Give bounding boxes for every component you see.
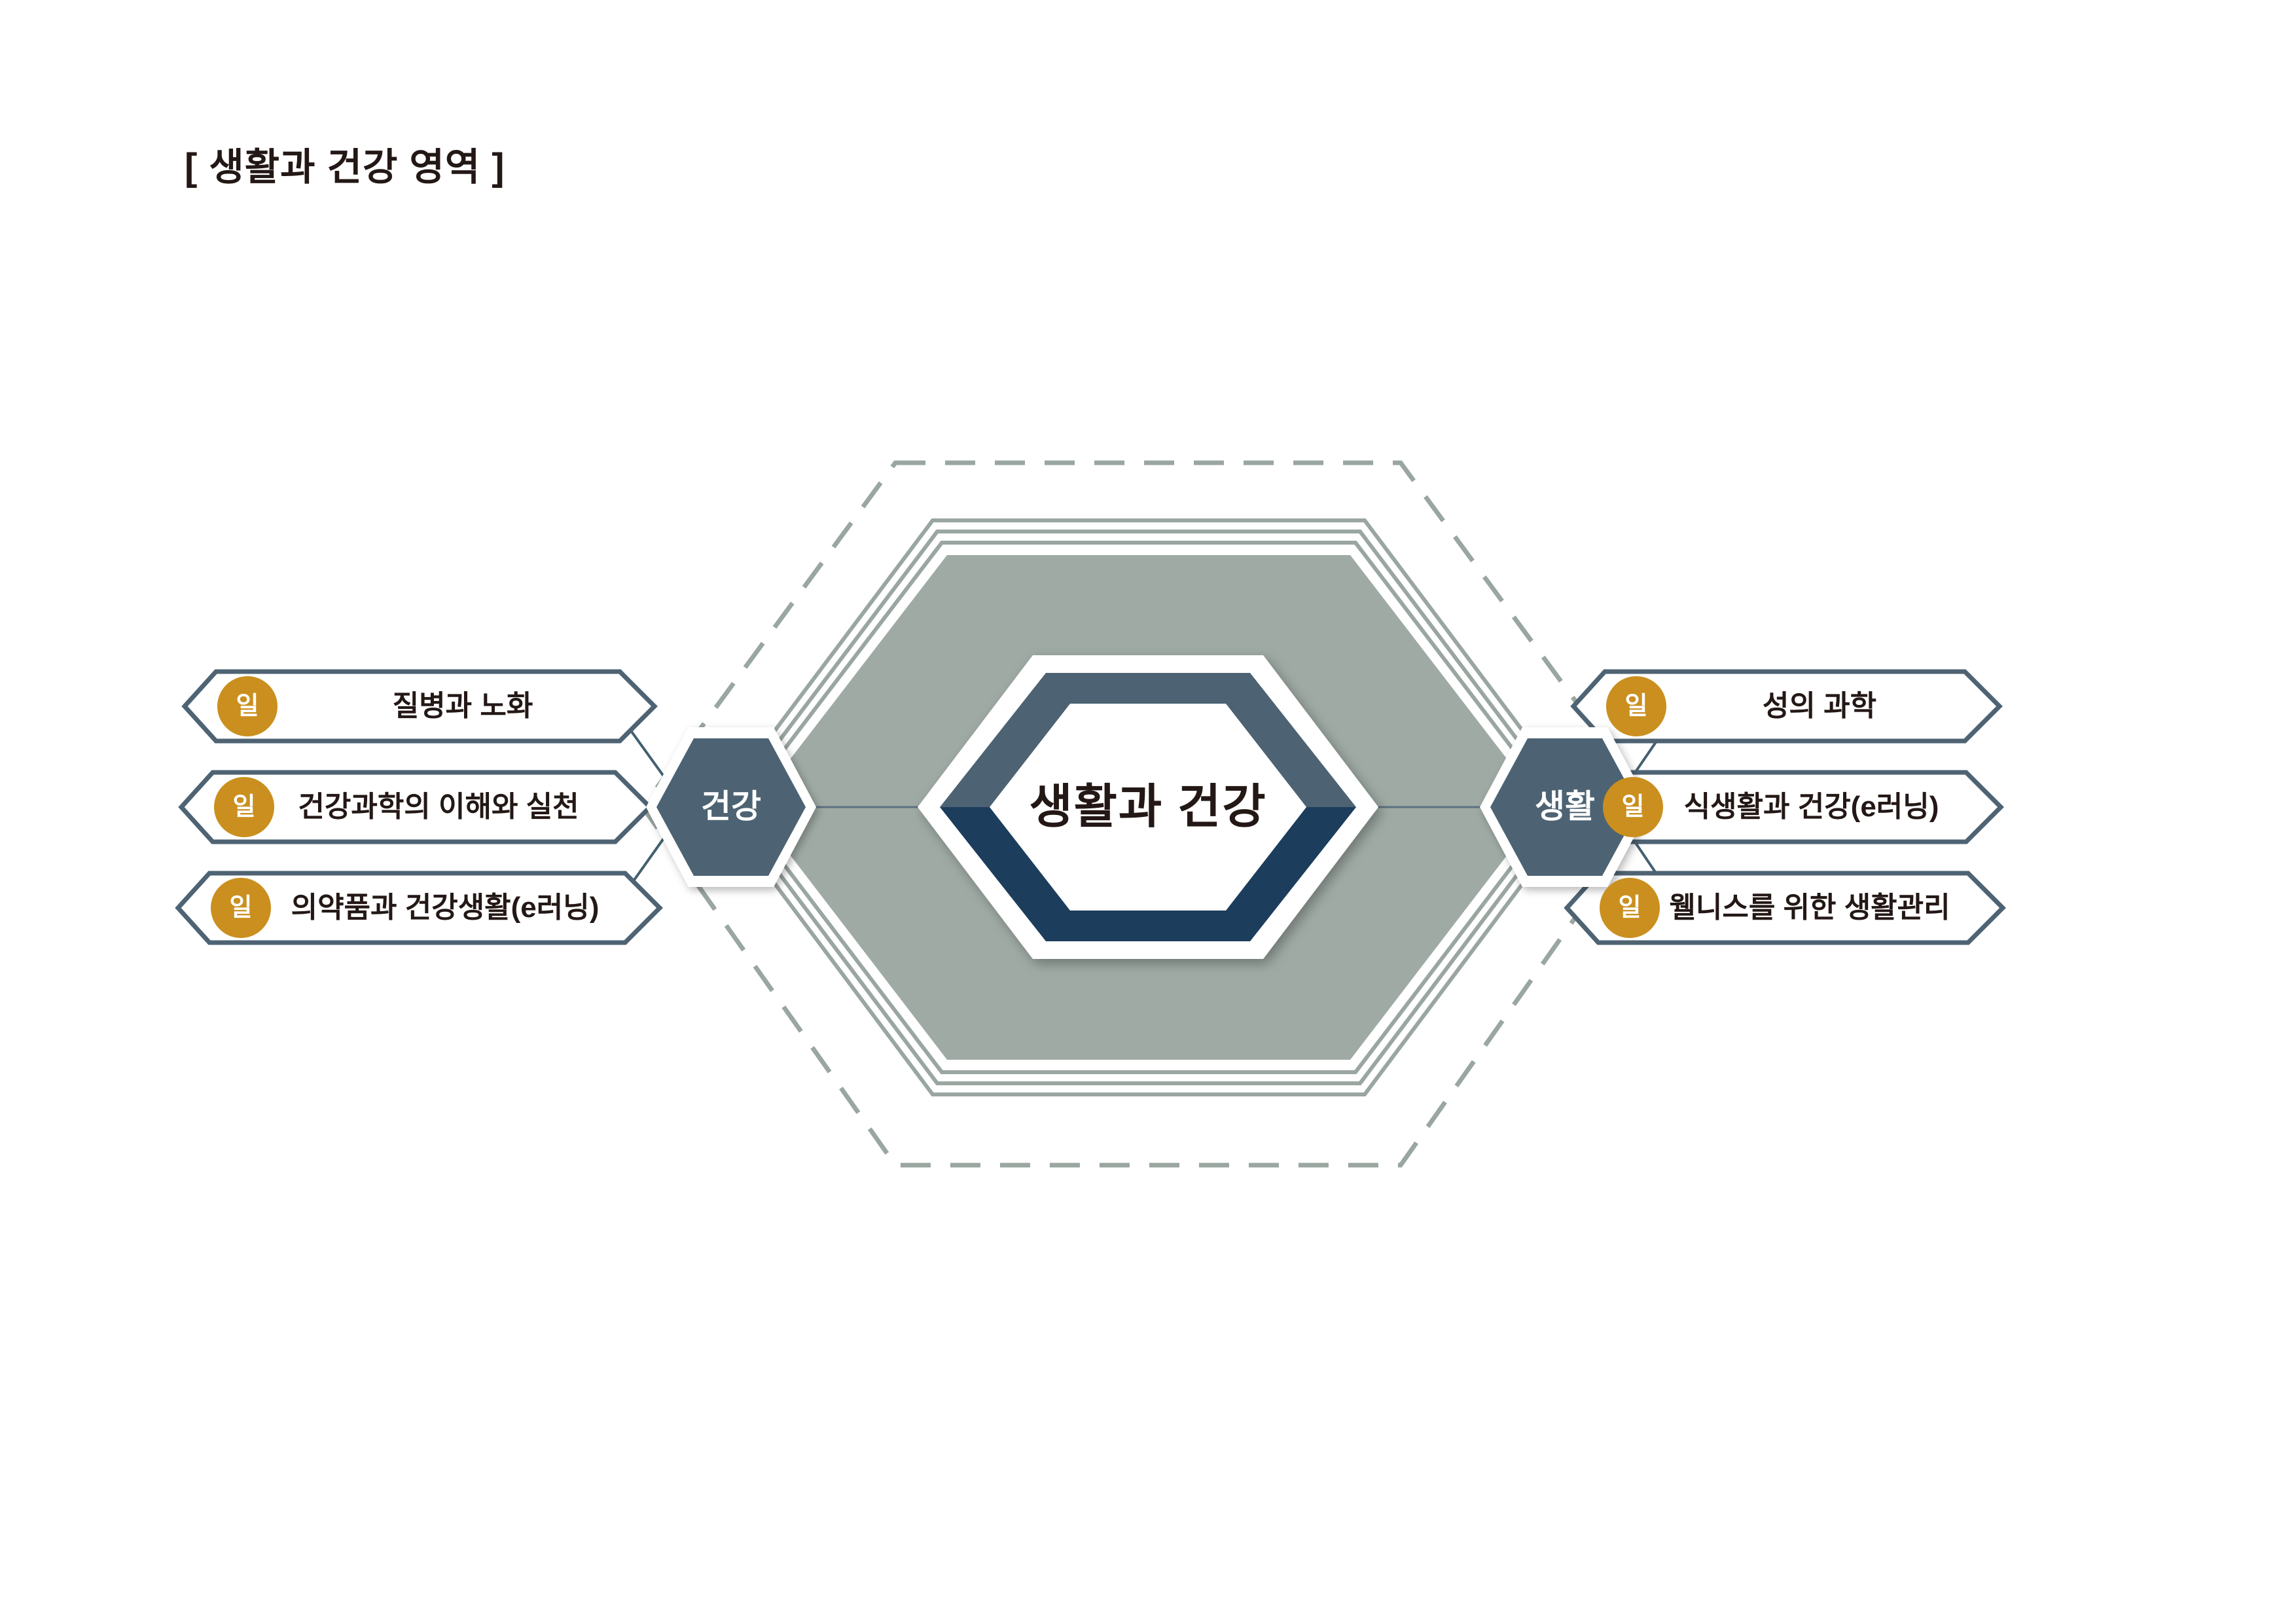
diagram-canvas: [ 생활과 건강 영역 ] bbox=[0, 0, 2296, 1624]
badge-label-left-2: 일 bbox=[224, 795, 264, 820]
branch-node-label-right: 생활 bbox=[1513, 790, 1617, 823]
badge-label-right-3: 일 bbox=[1610, 895, 1649, 920]
chevron-label-left-3: 의약품과 건강생활(e러닝) bbox=[262, 893, 628, 922]
badge-label-left-3: 일 bbox=[221, 895, 260, 920]
chevron-label-right-1: 성의 과학 bbox=[1682, 692, 1957, 721]
chevron-label-right-3: 웰니스를 위한 생활관리 bbox=[1656, 893, 1964, 922]
badge-label-right-1: 일 bbox=[1617, 694, 1656, 719]
chevron-label-left-2: 건강과학의 이해와 실천 bbox=[278, 793, 599, 821]
chevron-label-right-2: 식생활과 건강(e러닝) bbox=[1662, 793, 1960, 821]
chevron-label-left-1: 질병과 노화 bbox=[325, 692, 600, 721]
core-hexagon-label: 생활과 건강 bbox=[984, 784, 1312, 831]
branch-node-label-left: 건강 bbox=[679, 790, 783, 823]
badge-label-right-2: 일 bbox=[1613, 795, 1653, 820]
badge-label-left-1: 일 bbox=[228, 694, 267, 719]
